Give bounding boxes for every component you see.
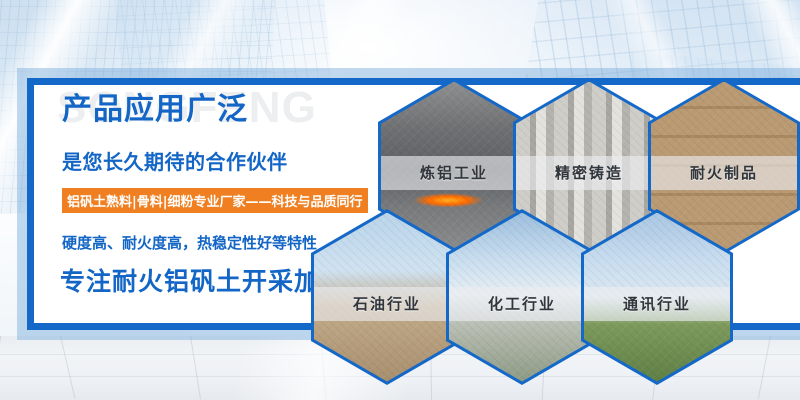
hexagon-label-chemical-industry: 化工行业 <box>449 287 595 321</box>
hexagon-label-petroleum-industry: 石油行业 <box>314 287 460 321</box>
promotional-banner: SONGFENG 产品应用广泛 是您长久期待的合作伙伴 铝矾土熟料|骨料|细粉专… <box>0 0 800 400</box>
industry-hexagon-grid: 炼铝工业 精密铸造 耐火制品 石油行业 <box>0 0 800 400</box>
hexagon-label-aluminum-smelting: 炼铝工业 <box>381 156 527 190</box>
hexagon-label-precision-casting: 精密铸造 <box>516 156 662 190</box>
hexagon-label-refractory-products: 耐火制品 <box>651 156 797 190</box>
hexagon-label-communications-industry: 通讯行业 <box>584 287 730 321</box>
